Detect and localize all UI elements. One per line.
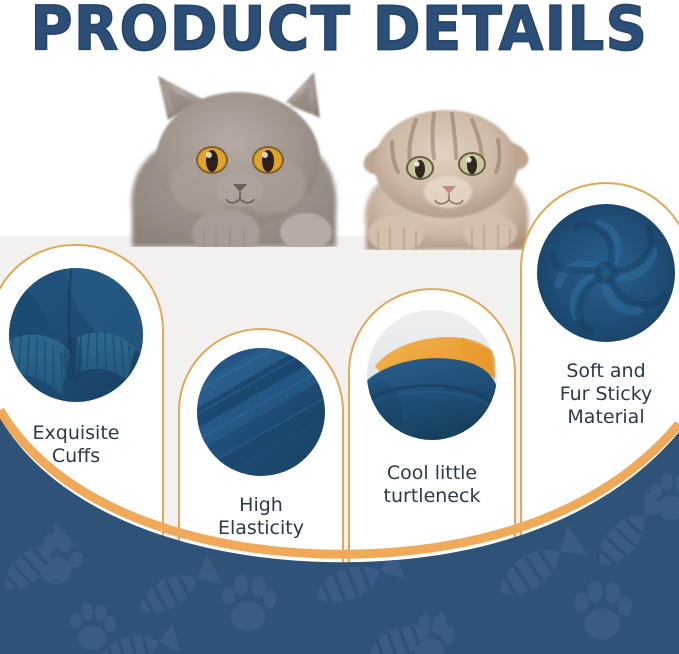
label-line-2: Cuffs	[0, 445, 162, 468]
turtleneck-collar-photo	[367, 310, 497, 440]
infographic-canvas: Exquisite Cuffs	[0, 0, 679, 654]
feature-card-label: Exquisite Cuffs	[0, 422, 162, 468]
label-line-1: High	[180, 494, 342, 517]
label-line-1: Cool little	[350, 462, 514, 485]
feature-card-cool-little-turtleneck[interactable]: Cool little turtleneck	[348, 288, 516, 574]
feature-card-exquisite-cuffs[interactable]: Exquisite Cuffs	[0, 244, 164, 574]
cuff-closeup-photo	[9, 268, 143, 402]
label-line-2: Fur Sticky	[522, 383, 679, 406]
stretch-fabric-photo	[197, 348, 325, 476]
page-title: PRODUCT DETAILS	[0, 0, 679, 60]
feature-card-label: High Elasticity	[180, 494, 342, 540]
label-line-2: Elasticity	[180, 517, 342, 540]
fleece-swirl-photo	[537, 204, 675, 342]
label-line-3: Material	[522, 406, 679, 429]
label-line-2: turtleneck	[350, 485, 514, 508]
label-line-1: Soft and	[522, 360, 679, 383]
label-line-1: Exquisite	[0, 422, 162, 445]
feature-card-label: Soft and Fur Sticky Material	[522, 360, 679, 430]
feature-card-label: Cool little turtleneck	[350, 462, 514, 508]
feature-card-soft-and-fur-sticky-material[interactable]: Soft and Fur Sticky Material	[520, 182, 679, 574]
feature-cards-row: Exquisite Cuffs	[0, 0, 679, 654]
feature-card-high-elasticity[interactable]: High Elasticity	[178, 328, 344, 574]
title-band: PRODUCT DETAILS	[0, 0, 679, 62]
